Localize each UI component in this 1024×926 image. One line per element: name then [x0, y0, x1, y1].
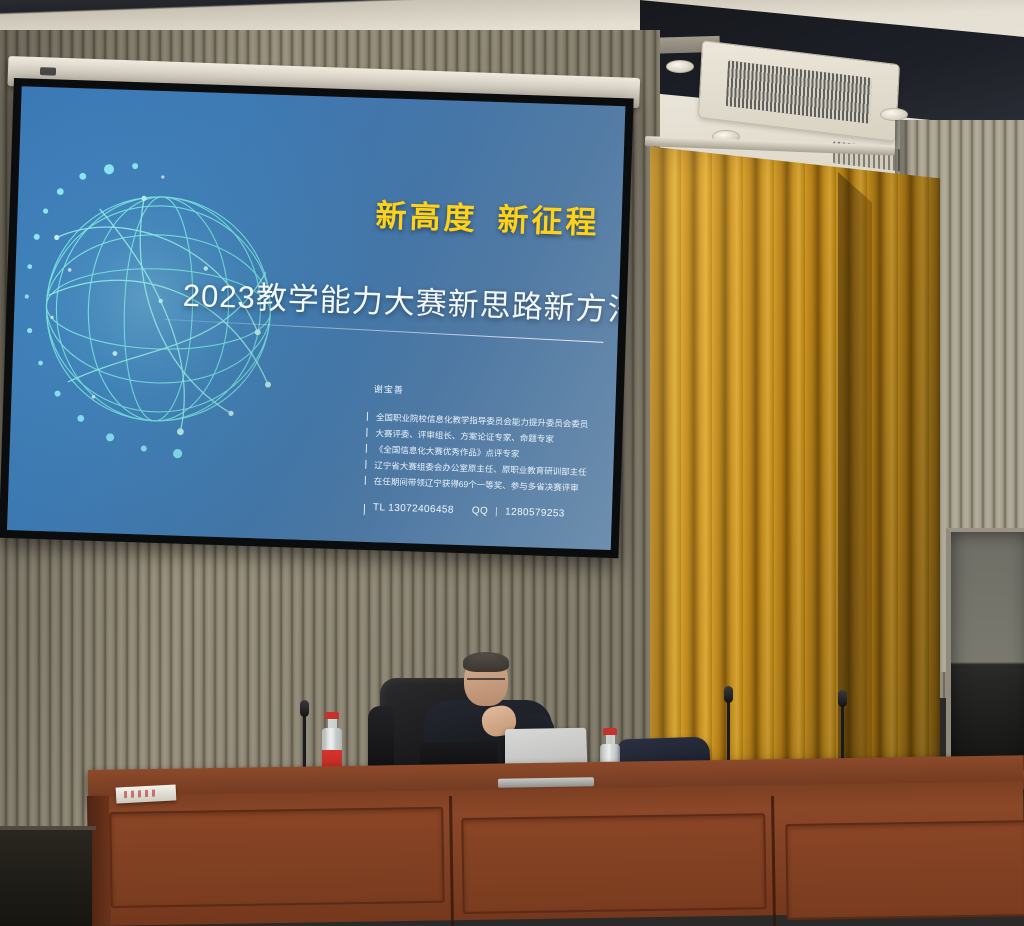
ac-grille-icon	[726, 60, 872, 123]
headline-right: 新征程	[497, 202, 600, 240]
slide-headline: 新高度新征程	[375, 190, 600, 242]
floor	[0, 828, 92, 926]
credentials-list: 全国职业院校信息化教学指导委员会能力提升委员会委员 大赛评委、评审组长、方案论证…	[365, 410, 618, 498]
mic-head	[724, 686, 733, 703]
mic-head	[838, 690, 847, 707]
headline-left: 新高度	[375, 198, 478, 236]
presentation-slide: 新高度新征程 2023教学能力大赛新思路新方法 谢宝善 全国职业院校信息化教学指…	[7, 86, 625, 550]
window-alcove	[946, 528, 1024, 782]
desk-panel-inset	[461, 813, 766, 914]
printed-document	[116, 784, 177, 803]
desk-panel-inset	[109, 807, 444, 908]
projection-screen: 新高度新征程 2023教学能力大赛新思路新方法 谢宝善 全国职业院校信息化教学指…	[0, 78, 634, 558]
contact-line: TL 13072406458QQ|1280579253	[364, 502, 565, 520]
phone-number: 13072406458	[388, 503, 454, 516]
glasses-icon	[467, 678, 505, 688]
screen-case-badge	[40, 67, 56, 76]
presenter-hair	[463, 652, 509, 672]
bottle-cap	[603, 728, 617, 735]
desk-panel-inset	[785, 820, 1024, 920]
presenter-name: 谢宝善	[374, 382, 404, 396]
laptop-base	[498, 777, 594, 788]
bottle-neck	[328, 719, 337, 728]
mic-head	[300, 700, 309, 717]
qq-number: 1280579253	[505, 507, 565, 520]
document-text-lines	[124, 789, 158, 798]
lecture-hall-photo: 新高度新征程 2023教学能力大赛新思路新方法 谢宝善 全国职业院校信息化教学指…	[0, 0, 1024, 926]
curtain-shading	[650, 140, 940, 780]
bottle-neck	[606, 735, 615, 744]
qq-label: QQ	[472, 505, 489, 517]
bottle-cap	[325, 712, 339, 719]
phone-label: TL	[373, 502, 385, 513]
ceiling-light-fixture	[666, 60, 694, 73]
floor-baseboard	[0, 826, 96, 830]
